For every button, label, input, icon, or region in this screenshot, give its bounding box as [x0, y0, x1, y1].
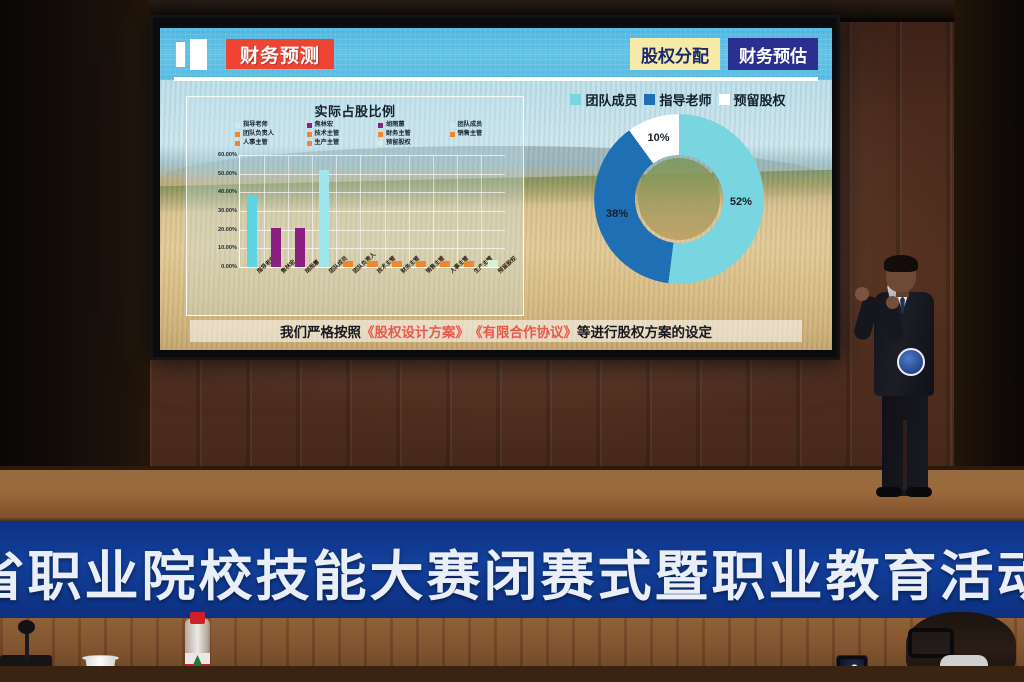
legend-item: 财务主管 — [378, 130, 446, 138]
grid-line-vertical — [312, 155, 313, 267]
grid-line-vertical — [481, 155, 482, 267]
y-axis-tick-label: 50.00% — [218, 171, 237, 177]
legend-swatch — [450, 132, 455, 137]
donut-legend-item: 团队成员 — [570, 90, 637, 109]
bar — [367, 261, 377, 267]
presenter-shoe-left — [876, 487, 902, 497]
donut-legend-item: 预留股权 — [719, 90, 786, 109]
donut-legend-label: 团队成员 — [585, 90, 637, 109]
legend-item: 人事主管 — [235, 139, 303, 147]
presenter-hand-right — [886, 296, 899, 309]
donut-legend-swatch — [570, 94, 581, 105]
grid-line-horizontal — [240, 192, 505, 193]
caption-part-1: 我们严格按照 — [280, 321, 361, 341]
bar — [319, 170, 329, 267]
bar — [440, 261, 450, 267]
donut-label-advisor: 38% — [606, 208, 628, 220]
legend-item: 焦林宏 — [307, 121, 375, 129]
legend-swatch — [307, 123, 312, 128]
donut-label-reserved: 10% — [648, 132, 670, 144]
water-bottle-cap — [190, 612, 205, 624]
presenter-shoe-right — [906, 487, 932, 497]
legend-swatch — [235, 123, 240, 128]
legend-label: 生产主管 — [315, 139, 340, 147]
grid-line-vertical — [409, 155, 410, 267]
grid-line-vertical — [457, 155, 458, 267]
legend-item: 销售主管 — [450, 130, 518, 138]
grid-line-vertical — [264, 155, 265, 267]
donut-legend-label: 预留股权 — [734, 90, 786, 109]
legend-swatch — [235, 141, 240, 146]
donut-chart-legend: 团队成员指导老师预留股权 — [542, 90, 814, 109]
donut-legend-label: 指导老师 — [659, 90, 711, 109]
bar — [295, 228, 305, 267]
bar — [464, 261, 474, 267]
y-axis-tick-label: 20.00% — [218, 227, 237, 233]
bar — [488, 260, 498, 267]
tab-equity-allocation[interactable]: 股权分配 — [630, 38, 720, 70]
legend-label: 胡雨蕙 — [386, 121, 405, 129]
eyeglasses-icon — [908, 628, 954, 658]
presenter-leg-gap — [903, 420, 907, 490]
y-axis-tick-label: 60.00% — [218, 152, 237, 158]
y-axis-tick-label: 10.00% — [218, 245, 237, 251]
bar-chart-plot-area: 0.00%10.00%20.00%30.00%40.00%50.00%60.00… — [239, 155, 505, 268]
x-axis-tick-label: 预留股权 — [496, 254, 518, 275]
y-axis-tick-label: 30.00% — [218, 208, 237, 214]
legend-label: 预留股权 — [386, 139, 411, 147]
legend-label: 销售主管 — [458, 130, 483, 138]
presenter-badge-icon — [897, 348, 925, 376]
legend-item: 团队负责人 — [235, 130, 303, 138]
legend-swatch — [378, 141, 383, 146]
caption-part-2: 等进行股权方案的设定 — [577, 321, 712, 341]
photo-scene: 财务预测 股权分配 财务预估 实际占股比例 指导老师焦林宏胡雨蕙团队成员团队负责… — [0, 0, 1024, 682]
caption-emphasis-2: 《有限合作协议》 — [469, 321, 577, 341]
bar — [247, 196, 257, 267]
donut-chart: 团队成员指导老师预留股权 52% 38% 10% — [542, 90, 814, 314]
donut-legend-swatch — [644, 94, 655, 105]
grid-line-horizontal — [240, 174, 505, 175]
caption-emphasis-1: 《股权设计方案》 — [361, 321, 469, 341]
led-screen: 财务预测 股权分配 财务预估 实际占股比例 指导老师焦林宏胡雨蕙团队成员团队负责… — [150, 15, 840, 360]
y-axis-tick-label: 40.00% — [218, 189, 237, 195]
grid-line-vertical — [385, 155, 386, 267]
stage-curtain-right — [954, 0, 1024, 520]
grid-line-horizontal — [240, 211, 505, 212]
legend-swatch — [450, 123, 455, 128]
grid-line-vertical — [433, 155, 434, 267]
bar-chart-panel: 实际占股比例 指导老师焦林宏胡雨蕙团队成员团队负责人技术主管财务主管销售主管人事… — [186, 96, 524, 316]
donut-legend-item: 指导老师 — [644, 90, 711, 109]
slide-caption: 我们严格按照《股权设计方案》《有限合作协议》等进行股权方案的设定 — [190, 320, 802, 342]
bar — [416, 261, 426, 267]
grid-line-vertical — [360, 155, 361, 267]
donut-label-team: 52% — [730, 196, 752, 208]
legend-item: 团队成员 — [450, 121, 518, 129]
legend-swatch — [307, 132, 312, 137]
header-divider — [174, 77, 818, 81]
tab-financial-estimate[interactable]: 财务预估 — [728, 38, 818, 70]
stage-curtain-left — [0, 0, 150, 520]
bar-chart-title: 实际占股比例 — [187, 101, 523, 120]
desk-microphone-icon — [18, 620, 35, 634]
legend-item: 指导老师 — [235, 121, 303, 129]
legend-label: 焦林宏 — [315, 121, 334, 129]
desk-front-panel — [0, 666, 1024, 682]
legend-item: 预留股权 — [378, 139, 446, 147]
legend-item: 胡雨蕙 — [378, 121, 446, 129]
legend-label: 指导老师 — [243, 121, 268, 129]
legend-label: 团队成员 — [458, 121, 483, 129]
legend-label: 技术主管 — [315, 130, 340, 138]
legend-swatch — [378, 132, 383, 137]
header-mark-wide-icon — [190, 39, 207, 70]
bar — [271, 228, 281, 267]
slide-title-badge: 财务预测 — [226, 39, 334, 69]
grid-line-vertical — [288, 155, 289, 267]
legend-item: 技术主管 — [307, 130, 375, 138]
bar — [343, 261, 353, 267]
legend-swatch — [307, 141, 312, 146]
grid-line-vertical — [336, 155, 337, 267]
presentation-slide: 财务预测 股权分配 财务预估 实际占股比例 指导老师焦林宏胡雨蕙团队成员团队负责… — [160, 28, 832, 350]
legend-swatch — [235, 132, 240, 137]
legend-item: 生产主管 — [307, 139, 375, 147]
presenter-hair — [884, 255, 918, 272]
legend-label: 人事主管 — [243, 139, 268, 147]
legend-swatch — [378, 123, 383, 128]
y-axis-tick-label: 0.00% — [221, 264, 237, 270]
legend-label: 团队负责人 — [243, 130, 274, 138]
bar-chart-legend: 指导老师焦林宏胡雨蕙团队成员团队负责人技术主管财务主管销售主管人事主管生产主管预… — [235, 121, 517, 147]
grid-line-horizontal — [240, 155, 505, 156]
banner-text: 省职业院校技能大赛闭赛式暨职业教育活动 — [0, 522, 1024, 620]
header-mark-narrow-icon — [176, 42, 185, 67]
presenter-hand-left — [855, 287, 869, 301]
legend-label: 财务主管 — [386, 130, 411, 138]
donut-legend-swatch — [719, 94, 730, 105]
